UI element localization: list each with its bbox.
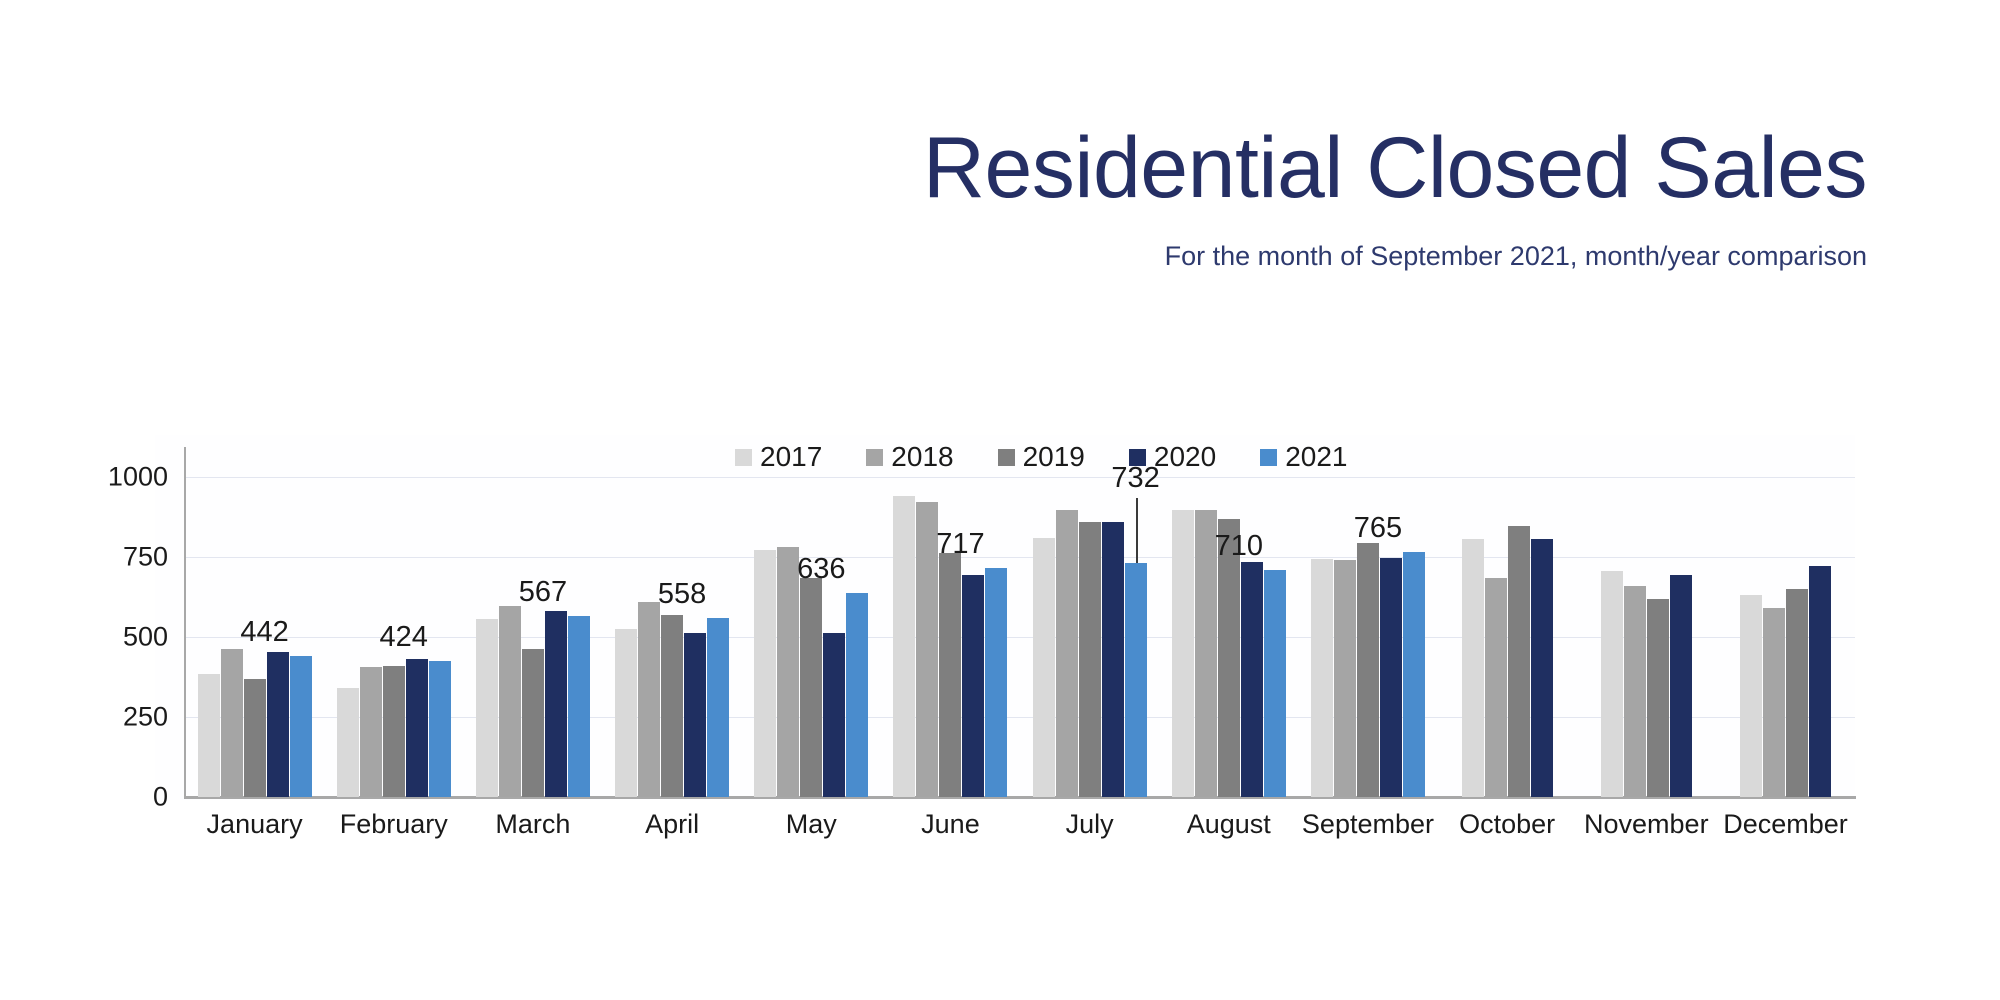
bar-march-2021[interactable] <box>568 616 590 797</box>
bar-may-2020[interactable] <box>823 633 845 797</box>
x-axis-tick-label-may: May <box>786 809 837 840</box>
month-group-may: May636 <box>742 477 881 797</box>
bar-november-2018[interactable] <box>1624 586 1646 797</box>
data-label-leader-line <box>1136 498 1138 563</box>
bar-chart: 02505007501000 20172018201920202021 Janu… <box>0 0 2000 1000</box>
data-label-february: 424 <box>380 621 428 654</box>
bar-july-2018[interactable] <box>1056 510 1078 797</box>
plot-area: January442February424March567April558May… <box>185 477 1855 797</box>
x-axis-tick-label-august: August <box>1187 809 1271 840</box>
y-axis-tick-label: 500 <box>123 622 168 653</box>
legend-label: 2019 <box>1023 443 1085 471</box>
bar-april-2020[interactable] <box>684 633 706 797</box>
x-axis-tick-label-september: September <box>1302 809 1434 840</box>
month-group-april: April558 <box>603 477 742 797</box>
bar-december-2017[interactable] <box>1740 595 1762 797</box>
bar-february-2018[interactable] <box>360 667 382 797</box>
data-label-may: 636 <box>797 553 845 586</box>
y-axis-tick-label: 750 <box>123 542 168 573</box>
bar-may-2021[interactable] <box>846 593 868 797</box>
bar-september-2019[interactable] <box>1357 543 1379 797</box>
bar-august-2021[interactable] <box>1264 570 1286 797</box>
x-axis-tick-label-february: February <box>340 809 448 840</box>
bar-june-2021[interactable] <box>985 568 1007 797</box>
month-group-february: February424 <box>324 477 463 797</box>
bar-june-2017[interactable] <box>893 496 915 797</box>
x-axis-tick-label-november: November <box>1584 809 1709 840</box>
month-group-october: October <box>1438 477 1577 797</box>
data-label-august: 710 <box>1215 530 1263 563</box>
bar-march-2020[interactable] <box>545 611 567 797</box>
month-group-january: January442 <box>185 477 324 797</box>
data-label-january: 442 <box>240 616 288 649</box>
month-group-july: July732 <box>1020 477 1159 797</box>
bar-april-2018[interactable] <box>638 602 660 797</box>
x-axis-tick-label-december: December <box>1723 809 1848 840</box>
month-group-september: September765 <box>1298 477 1437 797</box>
bar-july-2017[interactable] <box>1033 538 1055 797</box>
x-axis-tick-label-june: June <box>921 809 980 840</box>
bar-february-2021[interactable] <box>429 661 451 797</box>
bar-july-2021[interactable] <box>1125 563 1147 797</box>
legend-swatch-icon <box>735 449 752 466</box>
bar-september-2017[interactable] <box>1311 559 1333 797</box>
bar-october-2019[interactable] <box>1508 526 1530 797</box>
bar-june-2020[interactable] <box>962 575 984 797</box>
x-axis-tick-label-july: July <box>1066 809 1114 840</box>
x-axis-tick-label-march: March <box>495 809 570 840</box>
month-group-november: November <box>1577 477 1716 797</box>
data-label-march: 567 <box>519 576 567 609</box>
bar-february-2020[interactable] <box>406 659 428 797</box>
bar-october-2017[interactable] <box>1462 539 1484 797</box>
bar-june-2018[interactable] <box>916 502 938 797</box>
legend-label: 2017 <box>760 443 822 471</box>
legend-label: 2020 <box>1154 443 1216 471</box>
legend-item-2019[interactable]: 2019 <box>998 443 1085 471</box>
legend-item-2017[interactable]: 2017 <box>735 443 822 471</box>
x-axis-tick-label-april: April <box>645 809 699 840</box>
bar-may-2018[interactable] <box>777 547 799 797</box>
bar-june-2019[interactable] <box>939 553 961 797</box>
bar-july-2019[interactable] <box>1079 522 1101 797</box>
month-group-august: August710 <box>1159 477 1298 797</box>
bar-april-2019[interactable] <box>661 615 683 797</box>
bar-august-2020[interactable] <box>1241 562 1263 797</box>
bar-august-2018[interactable] <box>1195 510 1217 797</box>
bar-march-2018[interactable] <box>499 606 521 797</box>
legend-swatch-icon <box>866 449 883 466</box>
legend-label: 2018 <box>891 443 953 471</box>
data-label-april: 558 <box>658 578 706 611</box>
bar-january-2019[interactable] <box>244 679 266 797</box>
x-axis-tick-label-january: January <box>207 809 303 840</box>
legend-swatch-icon <box>1260 449 1277 466</box>
bar-january-2017[interactable] <box>198 674 220 797</box>
y-axis-tick-label: 1000 <box>108 462 168 493</box>
month-group-june: June717 <box>881 477 1020 797</box>
bar-october-2020[interactable] <box>1531 539 1553 797</box>
bar-january-2020[interactable] <box>267 652 289 797</box>
bar-december-2019[interactable] <box>1786 589 1808 797</box>
month-group-december: December <box>1716 477 1855 797</box>
legend-label: 2021 <box>1285 443 1347 471</box>
bar-august-2017[interactable] <box>1172 510 1194 797</box>
y-axis-tick-label: 250 <box>123 702 168 733</box>
bar-march-2017[interactable] <box>476 619 498 797</box>
bar-april-2021[interactable] <box>707 618 729 797</box>
bar-february-2019[interactable] <box>383 666 405 797</box>
bar-october-2018[interactable] <box>1485 578 1507 797</box>
bar-may-2017[interactable] <box>754 550 776 797</box>
bar-december-2020[interactable] <box>1809 566 1831 797</box>
bar-september-2020[interactable] <box>1380 558 1402 797</box>
bar-january-2018[interactable] <box>221 649 243 797</box>
data-label-july: 732 <box>1111 462 1159 495</box>
legend-item-2018[interactable]: 2018 <box>866 443 953 471</box>
chart-legend: 20172018201920202021 <box>735 443 1347 471</box>
bar-september-2021[interactable] <box>1403 552 1425 797</box>
bar-april-2017[interactable] <box>615 629 637 797</box>
legend-swatch-icon <box>998 449 1015 466</box>
bar-september-2018[interactable] <box>1334 560 1356 797</box>
data-label-september: 765 <box>1354 512 1402 545</box>
month-group-march: March567 <box>463 477 602 797</box>
legend-item-2021[interactable]: 2021 <box>1260 443 1347 471</box>
y-axis-tick-label: 0 <box>153 782 168 813</box>
x-axis-tick-label-october: October <box>1459 809 1555 840</box>
bar-july-2020[interactable] <box>1102 522 1124 797</box>
bar-november-2019[interactable] <box>1647 599 1669 797</box>
bar-december-2018[interactable] <box>1763 608 1785 797</box>
bar-november-2017[interactable] <box>1601 571 1623 797</box>
bar-february-2017[interactable] <box>337 688 359 797</box>
bar-november-2020[interactable] <box>1670 575 1692 797</box>
bar-may-2019[interactable] <box>800 578 822 797</box>
bar-january-2021[interactable] <box>290 656 312 797</box>
bar-march-2019[interactable] <box>522 649 544 797</box>
data-label-june: 717 <box>936 528 984 561</box>
